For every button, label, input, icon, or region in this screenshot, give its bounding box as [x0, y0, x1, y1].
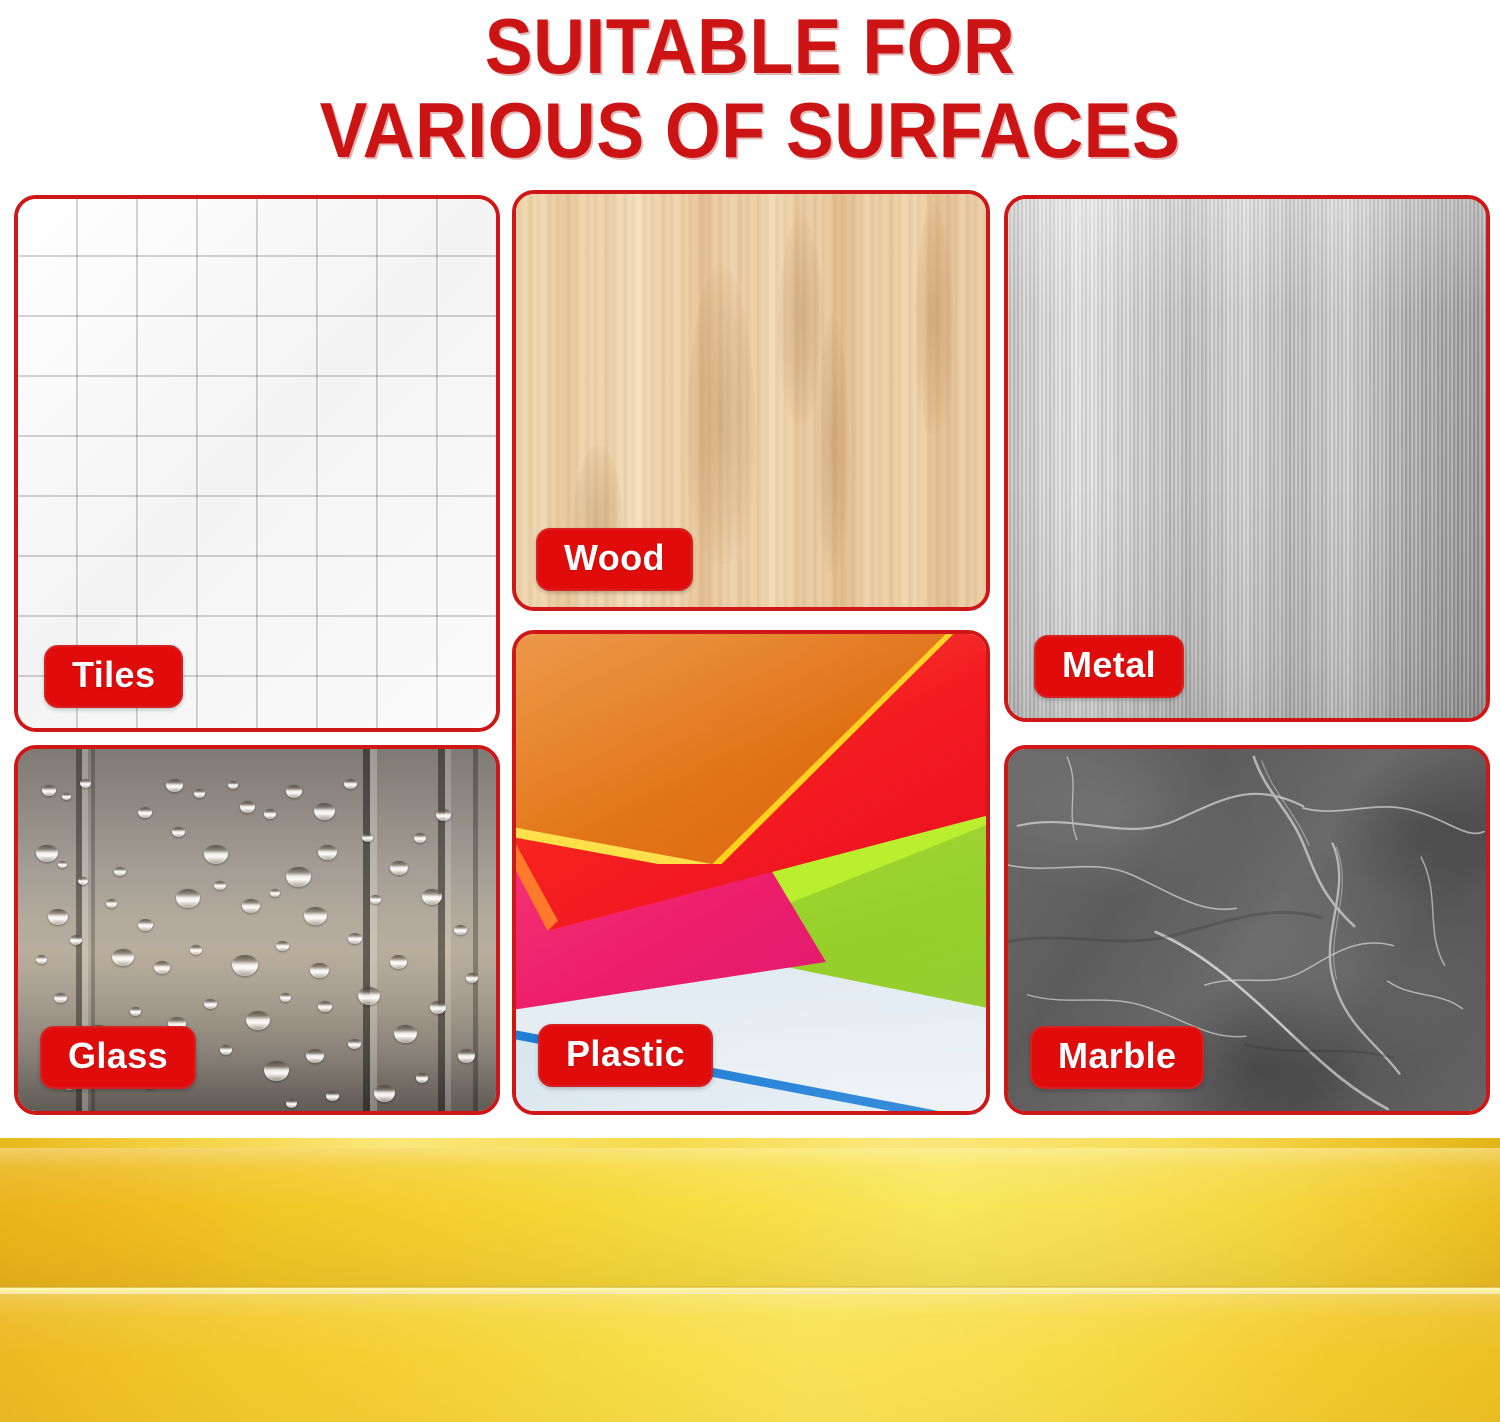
badge-label-wood: Wood: [564, 539, 665, 577]
status-badge-metal: Metal: [1034, 635, 1184, 698]
product-blade-strip: [0, 1138, 1500, 1422]
page-title: SUITABLE FOR VARIOUS OF SURFACES: [0, 4, 1500, 172]
status-badge-tiles: Tiles: [44, 645, 183, 708]
surface-card-wood[interactable]: Wood: [512, 190, 990, 611]
badge-label-glass: Glass: [68, 1037, 168, 1075]
blade-upper-gloss: [0, 1148, 1500, 1288]
blade-top-edge: [0, 1138, 1500, 1148]
surface-card-metal[interactable]: Metal: [1004, 195, 1490, 722]
surface-card-tiles[interactable]: Tiles: [14, 195, 500, 732]
surface-card-plastic[interactable]: Plastic: [512, 630, 990, 1115]
status-badge-glass: Glass: [40, 1026, 196, 1089]
title-line-2: VARIOUS OF SURFACES: [60, 88, 1440, 172]
status-badge-marble: Marble: [1030, 1026, 1204, 1089]
badge-label-plastic: Plastic: [566, 1035, 685, 1073]
blade-seam-line: [0, 1286, 1500, 1294]
wood-grain-mark: [914, 204, 954, 434]
wood-grain-mark: [778, 214, 824, 424]
surface-grid: Tiles Glass Wood: [0, 188, 1500, 1120]
infographic-page: SUITABLE FOR VARIOUS OF SURFACES Tiles G…: [0, 0, 1500, 1422]
surface-card-glass[interactable]: Glass: [14, 745, 500, 1115]
wood-grain-mark: [816, 314, 850, 574]
status-badge-wood: Wood: [536, 528, 693, 591]
blade-lower-gloss: [0, 1294, 1500, 1422]
surface-card-marble[interactable]: Marble: [1004, 745, 1490, 1115]
badge-label-marble: Marble: [1058, 1037, 1176, 1075]
status-badge-plastic: Plastic: [538, 1024, 713, 1087]
badge-label-metal: Metal: [1062, 646, 1156, 684]
wood-grain-mark: [686, 264, 756, 564]
badge-label-tiles: Tiles: [72, 656, 155, 694]
title-line-1: SUITABLE FOR: [60, 4, 1440, 88]
